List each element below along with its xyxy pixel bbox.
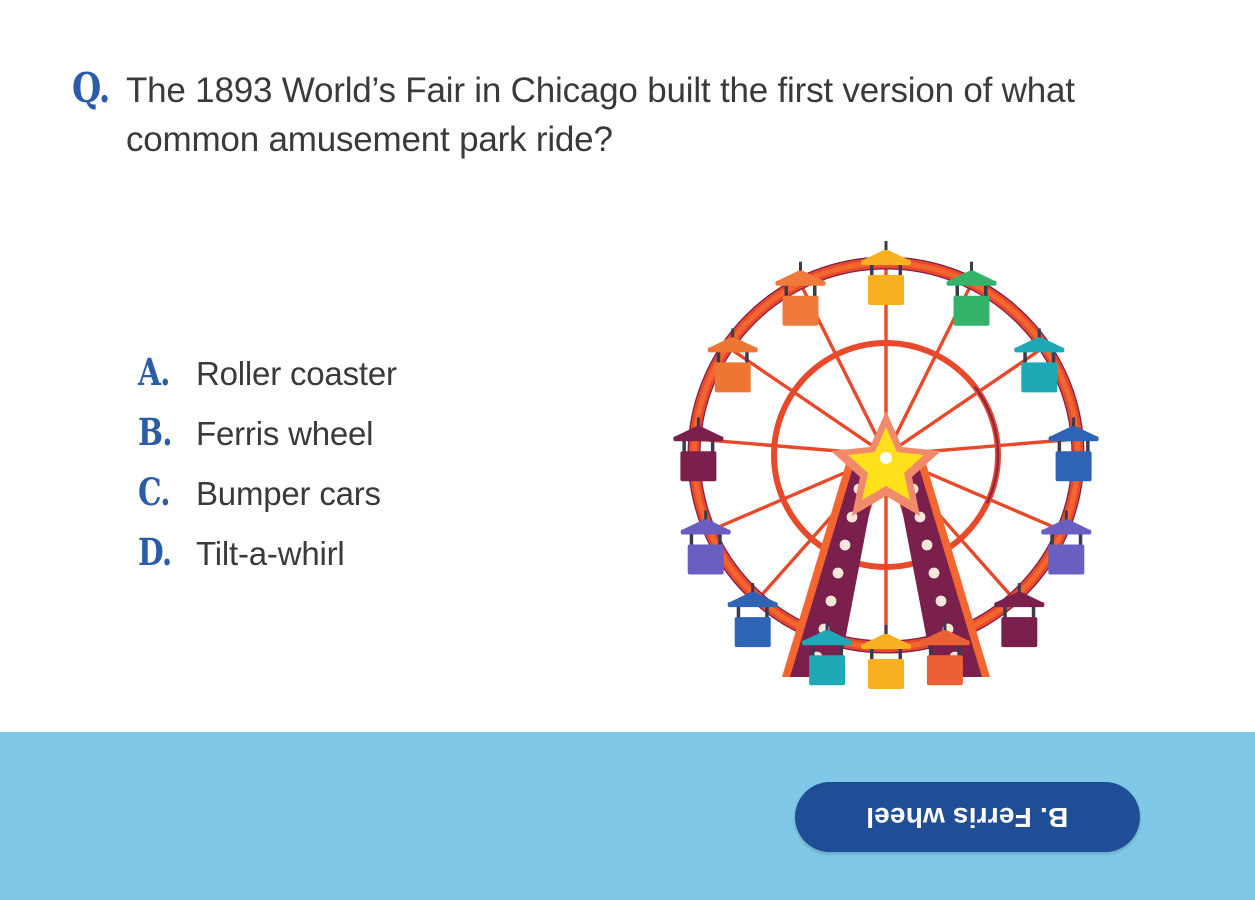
option-row-d[interactable]: D. Tilt-a-whirl xyxy=(138,532,618,592)
option-letter-c: C. xyxy=(138,472,184,512)
answer-reveal-button[interactable]: B. Ferris wheel xyxy=(795,782,1140,852)
question-marker: Q. xyxy=(72,66,121,110)
answer-button-label: B. Ferris wheel xyxy=(866,801,1068,833)
options-list: A. Roller coaster B. Ferris wheel C. Bum… xyxy=(138,352,618,592)
ferris-wheel-illustration: .gset .gb, .gset .gc { fill: inherit; } … xyxy=(636,205,1136,705)
option-letter-a: A. xyxy=(138,352,184,392)
option-letter-b: B. xyxy=(138,412,184,452)
question-block: Q. The 1893 World’s Fair in Chicago buil… xyxy=(72,66,1132,164)
answer-band: B. Ferris wheel xyxy=(0,732,1255,900)
option-text-b: Ferris wheel xyxy=(196,414,373,454)
option-row-a[interactable]: A. Roller coaster xyxy=(138,352,618,412)
option-text-a: Roller coaster xyxy=(196,354,397,394)
option-text-c: Bumper cars xyxy=(196,474,381,514)
option-row-b[interactable]: B. Ferris wheel xyxy=(138,412,618,472)
trivia-question-card: Q. The 1893 World’s Fair in Chicago buil… xyxy=(0,0,1255,900)
option-text-d: Tilt-a-whirl xyxy=(196,534,345,574)
option-letter-d: D. xyxy=(138,532,184,572)
option-row-c[interactable]: C. Bumper cars xyxy=(138,472,618,532)
question-text: The 1893 World’s Fair in Chicago built t… xyxy=(126,66,1111,164)
